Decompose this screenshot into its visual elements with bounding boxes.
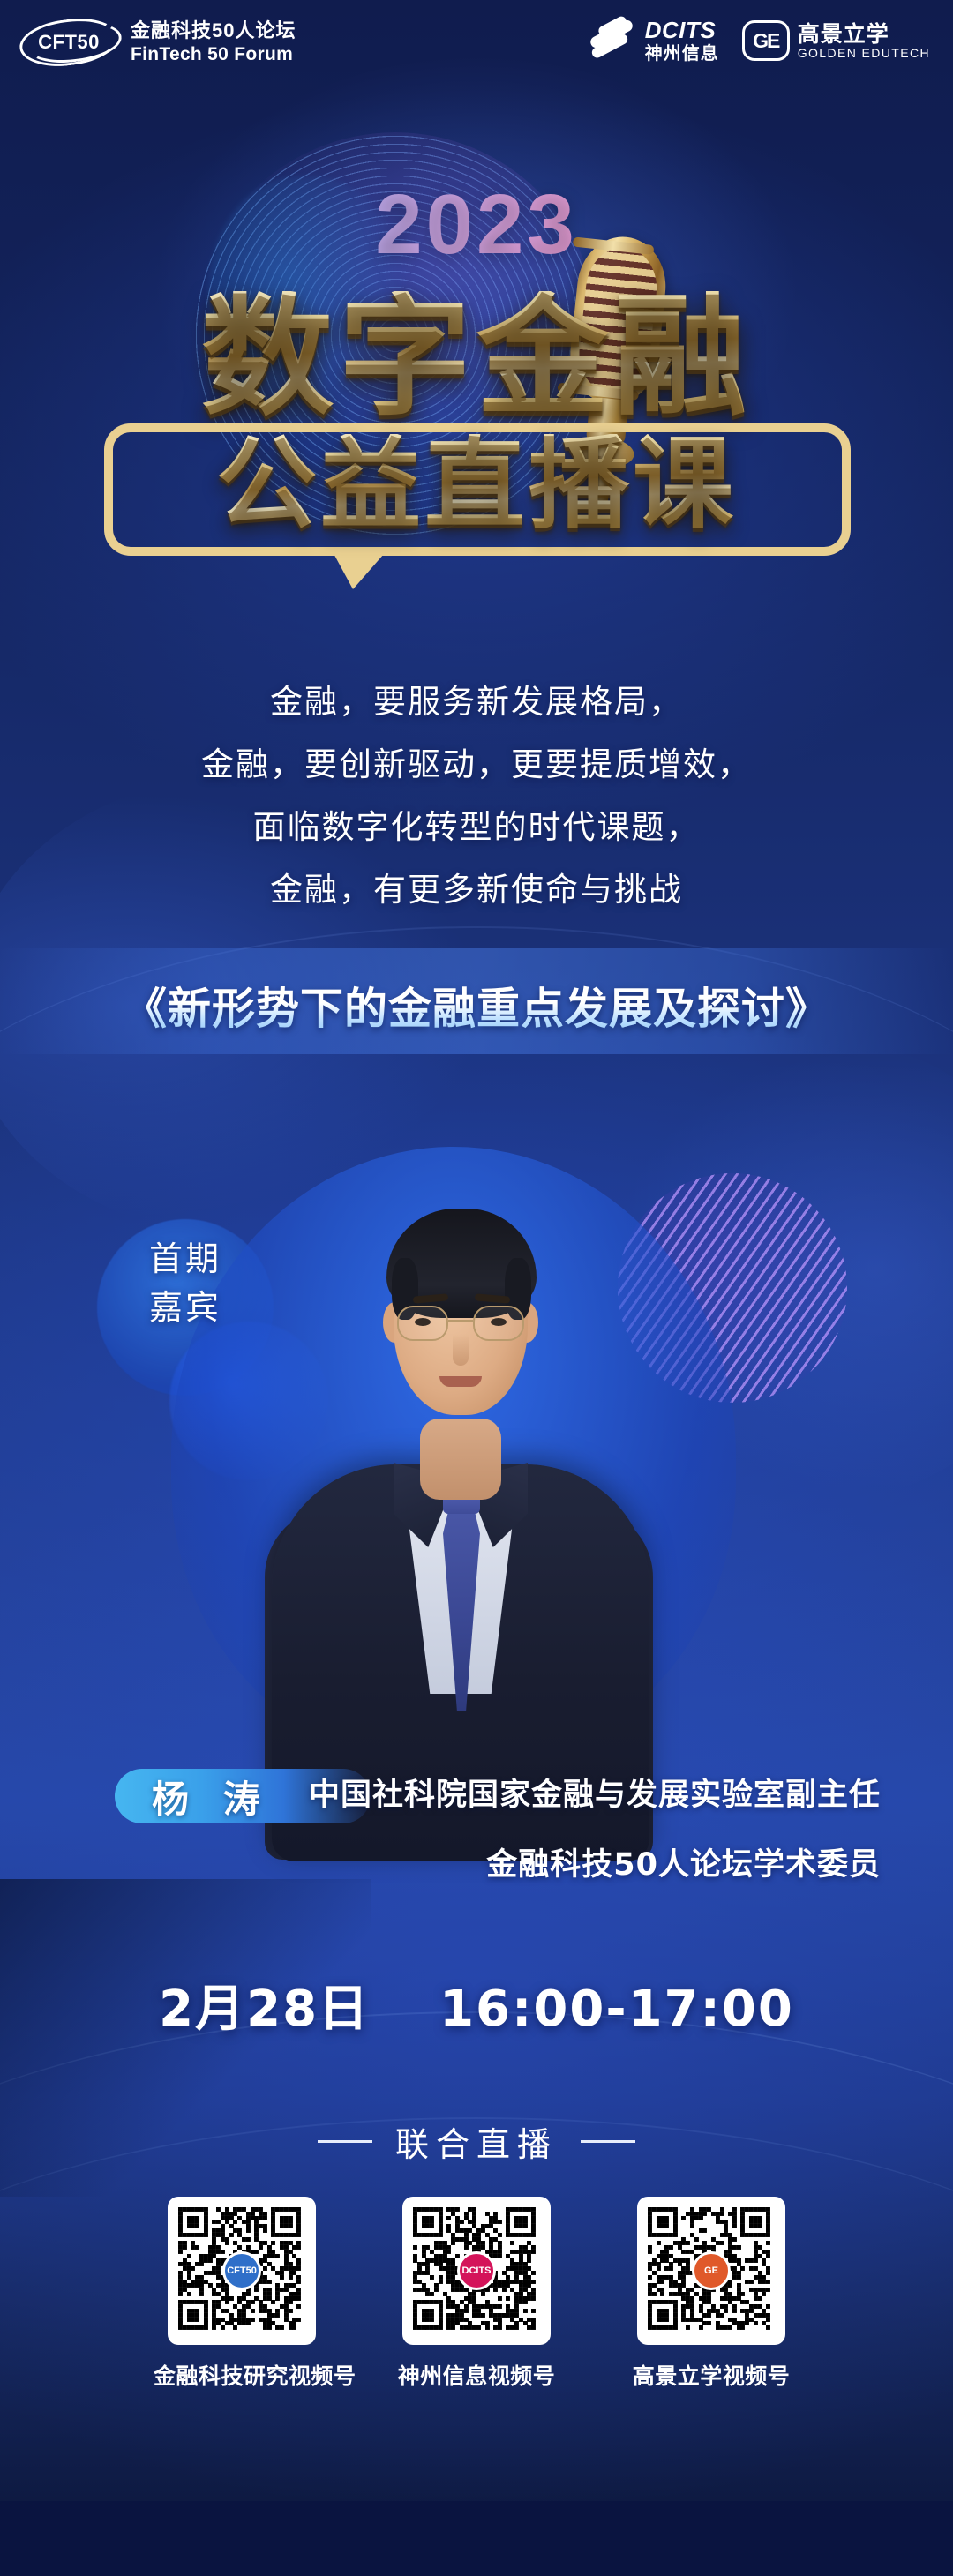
cft50-logo: CFT50 金融科技50人论坛 FinTech 50 Forum — [19, 19, 296, 65]
qr-center-logo-icon: DCITS — [457, 2251, 496, 2290]
lecture-title: 《新形势下的金融重点发展及探讨》 — [0, 974, 953, 1037]
lead-line-2: 金融，要创新驱动，更要提质增效， — [0, 733, 953, 796]
dcits-en-name: DCITS — [645, 18, 719, 44]
schedule-row: 2月28日 16:00-17:00 — [0, 1969, 953, 2041]
guest-badge-line-2: 嘉宾 — [97, 1284, 274, 1332]
divider-right — [581, 2140, 635, 2143]
qr-item-dcits[interactable]: DCITS 神州信息视频号 — [388, 2197, 565, 2391]
dcits-wordmark: DCITS 神州信息 — [645, 18, 719, 64]
qr-item-golden-edutech[interactable]: GE 高景立学视频号 — [623, 2197, 799, 2391]
qr-code-box[interactable]: GE — [637, 2197, 785, 2345]
lead-line-1: 金融，要服务新发展格局， — [0, 670, 953, 733]
poster-header: CFT50 金融科技50人论坛 FinTech 50 Forum DCITS 神… — [0, 0, 953, 88]
speaker-portrait — [150, 1094, 803, 1870]
portrait-figure — [309, 1154, 609, 1860]
guest-badge-line-1: 首期 — [97, 1235, 274, 1284]
cft50-en-name: FinTech 50 Forum — [131, 43, 296, 66]
dcits-logo: DCITS 神州信息 — [587, 18, 719, 64]
qr-center-logo-icon: GE — [692, 2251, 731, 2290]
dcits-cn-name: 神州信息 — [645, 44, 719, 64]
poster-main-title: 数字金融 — [0, 291, 953, 423]
cft50-cn-name: 金融科技50人论坛 — [131, 19, 296, 43]
qr-code-box[interactable]: CFT50 — [168, 2197, 316, 2345]
lead-paragraph: 金融，要服务新发展格局， 金融，要创新驱动，更要提质增效， 面临数字化转型的时代… — [0, 670, 953, 921]
qr-label: 神州信息视频号 — [388, 2359, 565, 2391]
speaker-role-line-2: 金融科技50人论坛学术委员 — [0, 1839, 953, 1884]
golden-edutech-icon: GE — [742, 20, 790, 61]
cft50-wordmark: 金融科技50人论坛 FinTech 50 Forum — [131, 19, 296, 65]
event-date: 2月28日 — [159, 1981, 370, 2038]
joint-live-header: 联合直播 — [0, 2117, 953, 2166]
golden-edutech-en-name: GOLDEN EDUTECH — [798, 47, 930, 61]
golden-edutech-logo: GE 高景立学 GOLDEN EDUTECH — [742, 20, 930, 61]
event-time: 16:00-17:00 — [439, 1981, 794, 2038]
cft50-mark-text: CFT50 — [19, 19, 118, 65]
divider-left — [318, 2140, 372, 2143]
qr-label: 金融科技研究视频号 — [154, 2359, 330, 2391]
qr-code-box[interactable]: DCITS — [402, 2197, 551, 2345]
qr-label: 高景立学视频号 — [623, 2359, 799, 2391]
dcits-swirl-icon — [587, 18, 636, 64]
lead-line-3: 面临数字化转型的时代课题， — [0, 796, 953, 858]
qr-center-logo-icon: CFT50 — [222, 2251, 261, 2290]
qr-item-cft50[interactable]: CFT50 金融科技研究视频号 — [154, 2197, 330, 2391]
guest-badge: 首期 嘉宾 — [97, 1235, 274, 1332]
partner-logos: DCITS 神州信息 GE 高景立学 GOLDEN EDUTECH — [587, 18, 930, 64]
speaker-role-line-1: 中国社科院国家金融与发展实验室副主任 — [0, 1770, 953, 1815]
lead-line-4: 金融，有更多新使命与挑战 — [0, 858, 953, 921]
cft50-logo-icon: CFT50 — [19, 19, 118, 65]
qr-code-row: CFT50 金融科技研究视频号 DCITS 神州信息视频号 GE 高景立学视频号 — [0, 2197, 953, 2391]
poster-subtitle: 公益直播课 — [0, 434, 953, 535]
golden-edutech-wordmark: 高景立学 GOLDEN EDUTECH — [798, 22, 930, 61]
year-label: 2023 — [0, 176, 953, 273]
golden-edutech-cn-name: 高景立学 — [798, 22, 930, 47]
joint-live-label: 联合直播 — [395, 2117, 558, 2166]
